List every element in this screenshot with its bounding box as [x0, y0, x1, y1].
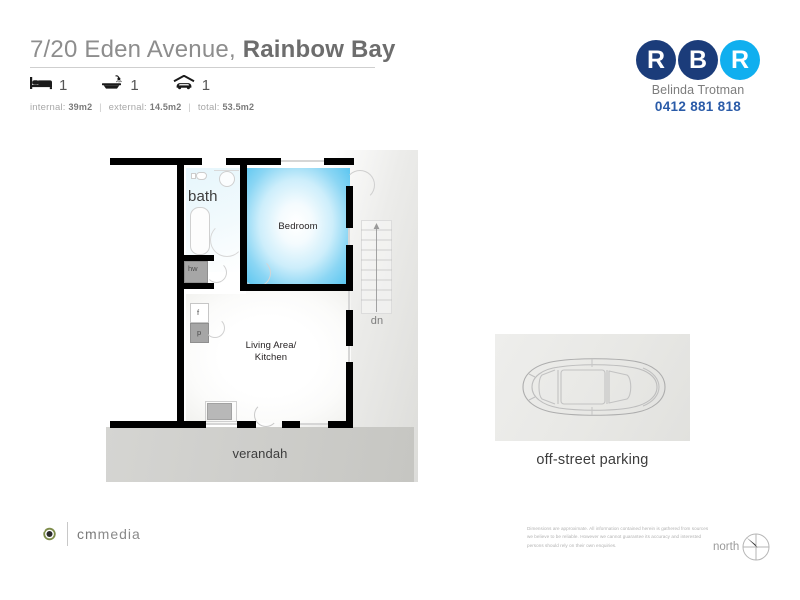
wall-bottom-left — [110, 421, 184, 428]
fixture-label-hw: hw — [188, 264, 198, 273]
floor-plan: verandah Bedroom bath Living Area/ Kitch… — [106, 150, 418, 482]
wall-top-bedroom-b — [324, 158, 354, 165]
cmmedia-logo: cmmedia — [30, 519, 141, 549]
fixture-label-f: f — [197, 308, 199, 317]
bath-door-arc — [210, 223, 244, 257]
logo-circle-b: B — [678, 40, 718, 80]
cmmedia-text-media: media — [98, 526, 141, 542]
cmmedia-mark-icon — [30, 519, 60, 549]
spec-bedrooms: 1 — [30, 76, 67, 95]
north-label: north — [713, 541, 739, 553]
entry-door-arc — [254, 403, 278, 427]
fixture-label-p: p — [197, 328, 201, 337]
wall-top-bedroom-a — [226, 158, 281, 165]
kitchen-bench — [205, 401, 237, 422]
north-indicator: north — [713, 531, 772, 563]
bath-shower-icon — [101, 75, 123, 95]
title-divider — [30, 67, 375, 68]
window-bottom-1 — [206, 423, 237, 425]
wall-bottom-seg-3 — [282, 421, 300, 428]
pantry-door-arc — [205, 318, 225, 338]
total-area-label: total: — [198, 102, 220, 113]
carpark-illustration-box — [495, 334, 690, 441]
left-void-fill — [112, 164, 184, 426]
wall-top-left — [110, 158, 184, 165]
carspaces-count: 1 — [202, 77, 210, 94]
wall-right-seg-1 — [346, 186, 353, 228]
wall-right-seg-3 — [346, 310, 353, 346]
carport-icon — [173, 75, 195, 95]
basin-fixture — [219, 171, 235, 187]
toilet-fixture — [196, 172, 207, 180]
wall-bottom-seg-1 — [184, 421, 206, 428]
external-area-value: 14.5m2 — [150, 102, 182, 112]
car-top-view-icon — [495, 334, 690, 441]
window-right-2 — [348, 291, 350, 310]
internal-area-value: 39m2 — [68, 102, 92, 112]
logo-circle-r2: R — [720, 40, 760, 80]
room-label-living-kitchen: Living Area/ Kitchen — [216, 340, 326, 363]
stairs-direction-label: dn — [364, 315, 390, 328]
area-summary: internal: 39m2 | external: 14.5m2 | tota… — [30, 102, 450, 113]
cmmedia-divider — [67, 522, 68, 546]
room-label-bedroom: Bedroom — [258, 221, 338, 233]
page-title: 7/20 Eden Avenue, Rainbow Bay — [30, 36, 450, 64]
wall-right-seg-4 — [346, 362, 353, 428]
agency-logo: R B R Belinda Trotman 0412 881 818 — [618, 40, 778, 114]
logo-letter-r1: R — [647, 48, 665, 73]
window-top-1 — [281, 160, 324, 162]
window-bottom-2 — [300, 423, 328, 425]
living-label-line1: Living Area/ — [216, 340, 326, 352]
toilet-cistern — [191, 173, 196, 179]
window-right-1 — [348, 228, 350, 245]
rbr-monogram: R B R — [618, 40, 778, 80]
wall-bath-bedroom-divider — [240, 158, 247, 291]
address-street: 7/20 Eden Avenue, — [30, 36, 243, 63]
address-suburb: Rainbow Bay — [243, 36, 396, 63]
cmmedia-text-cm: cm — [77, 526, 98, 542]
logo-circle-r1: R — [636, 40, 676, 80]
living-label-line2: Kitchen — [216, 352, 326, 364]
spec-bathrooms: 1 — [101, 75, 138, 95]
room-label-verandah: verandah — [190, 446, 330, 462]
agent-phone[interactable]: 0412 881 818 — [618, 99, 778, 114]
logo-letter-r2: R — [731, 48, 749, 73]
property-header: 7/20 Eden Avenue, Rainbow Bay 1 — [30, 36, 450, 113]
internal-area-label: internal: — [30, 102, 66, 113]
area-separator-1: | — [95, 102, 106, 113]
bathtub-fixture — [190, 207, 210, 255]
carpark-label: off-street parking — [495, 452, 690, 468]
property-specs: 1 1 — [30, 75, 450, 95]
external-area-label: external: — [109, 102, 147, 113]
compass-icon — [740, 531, 772, 563]
spec-carspaces: 1 — [173, 75, 210, 95]
wall-bottom-seg-4 — [328, 421, 353, 428]
bed-icon — [30, 76, 52, 95]
basin-bench-edge — [214, 170, 239, 171]
wall-hw-bottom — [184, 283, 214, 289]
area-separator-2: | — [184, 102, 195, 113]
wall-top-bath — [184, 158, 202, 165]
window-right-3 — [348, 346, 350, 362]
hw-door-arc — [206, 262, 227, 283]
logo-letter-b: B — [689, 48, 707, 73]
bathrooms-count: 1 — [130, 77, 138, 94]
carpark-section: off-street parking — [495, 334, 690, 468]
cmmedia-wordmark: cmmedia — [77, 526, 141, 542]
fixture-fridge — [190, 303, 209, 323]
wall-bath-bottom — [184, 255, 214, 261]
wall-spine-vertical — [177, 158, 184, 428]
wall-bottom-seg-2 — [237, 421, 256, 428]
agent-name: Belinda Trotman — [618, 83, 778, 97]
stair-treads — [361, 220, 392, 314]
bedroom-inner-door-arc — [243, 259, 271, 287]
bedrooms-count: 1 — [59, 77, 67, 94]
disclaimer-text: Dimensions are approximate. All informat… — [527, 525, 710, 550]
room-label-bath: bath — [188, 188, 244, 206]
total-area-value: 53.5m2 — [222, 102, 254, 112]
floorplan-page: 7/20 Eden Avenue, Rainbow Bay 1 — [0, 0, 800, 600]
wall-bedroom-bottom — [240, 284, 350, 291]
wall-right-seg-2 — [346, 245, 353, 291]
